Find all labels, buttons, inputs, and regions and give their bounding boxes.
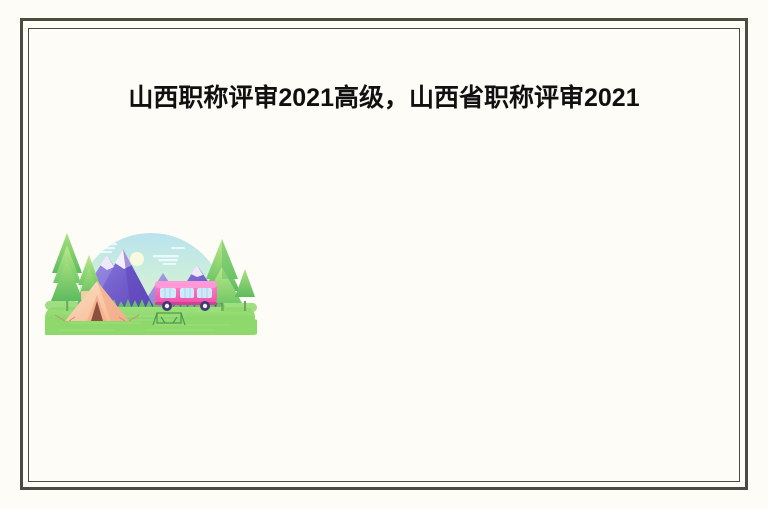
page-title: 山西职称评审2021高级，山西省职称评审2021 xyxy=(0,82,768,114)
page-root: 山西职称评审2021高级，山西省职称评审2021 xyxy=(0,0,768,510)
sun-icon xyxy=(130,252,144,266)
camping-scene-svg xyxy=(45,203,257,337)
camping-scene-illustration xyxy=(45,203,257,337)
